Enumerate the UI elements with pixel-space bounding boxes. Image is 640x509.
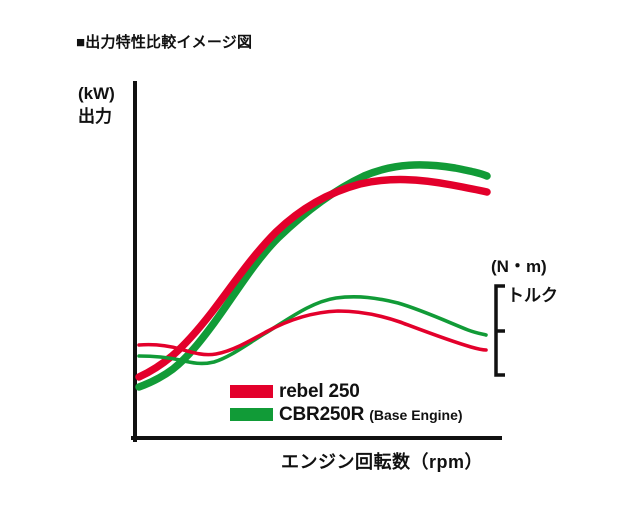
power-characteristics-figure: ■出力特性比較イメージ図 (kW) 出力 (N・m) トルク エンジン回転数（r… xyxy=(0,0,640,509)
green-swatch xyxy=(230,408,273,421)
y-axis-unit: (kW) xyxy=(78,84,115,103)
right-axis-label: トルク xyxy=(507,281,558,306)
legend-note-cbr250r: (Base Engine) xyxy=(369,407,462,423)
y-axis-label: (kW) 出力 xyxy=(78,82,115,128)
legend: rebel 250 CBR250R (Base Engine) xyxy=(230,380,463,426)
legend-item-cbr250r: CBR250R (Base Engine) xyxy=(230,403,463,426)
legend-item-rebel250: rebel 250 xyxy=(230,380,463,403)
y-axis-name: 出力 xyxy=(78,105,115,128)
red-swatch xyxy=(230,385,273,398)
right-axis-unit: (N・m) xyxy=(491,252,547,277)
torque-range-bracket xyxy=(496,286,505,375)
legend-label-cbr250r: CBR250R xyxy=(279,404,364,426)
legend-label-rebel250: rebel 250 xyxy=(279,381,360,403)
x-axis-label: エンジン回転数（rpm） xyxy=(281,448,483,474)
